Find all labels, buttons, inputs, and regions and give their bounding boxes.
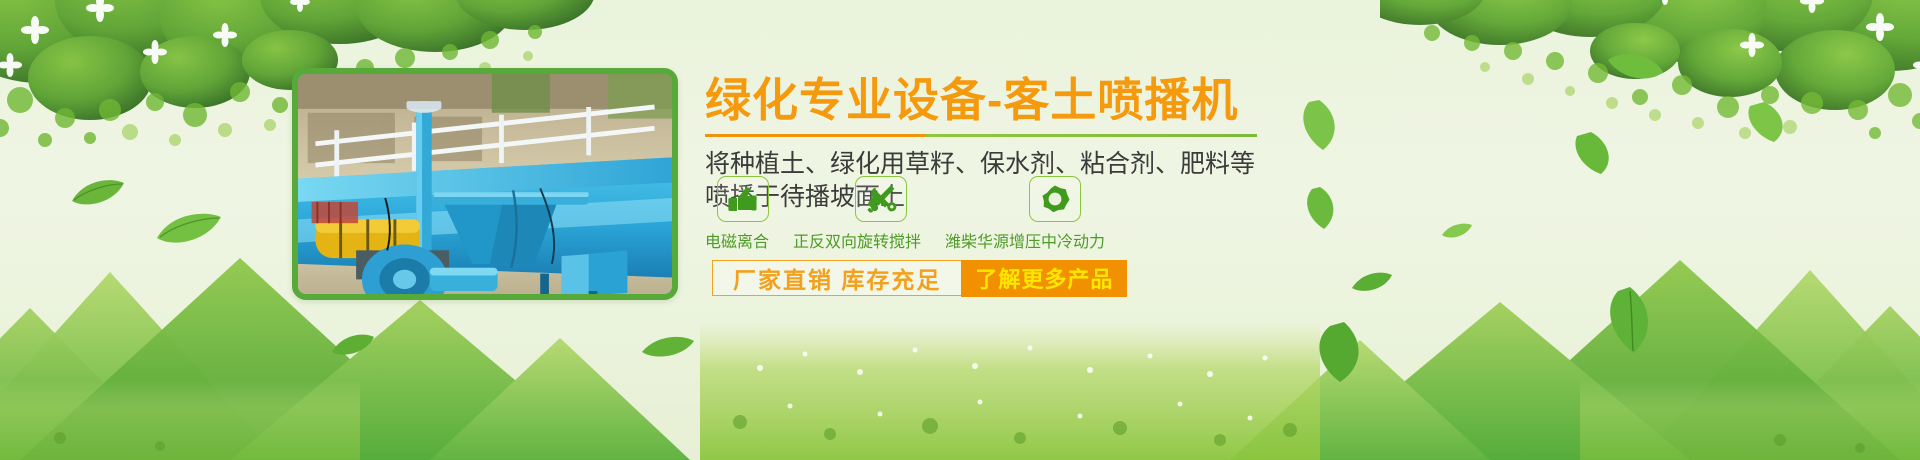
title-divider bbox=[705, 134, 1257, 137]
feature-icon-box bbox=[1029, 176, 1081, 222]
feature-item-weichai-engine[interactable] bbox=[1029, 176, 1081, 222]
thumbs-up-icon bbox=[727, 185, 759, 213]
cta-bar: 厂家直销 库存充足 了解更多产品 bbox=[712, 260, 1127, 296]
leaf-decoration-icon bbox=[1310, 320, 1368, 384]
gear-engine-icon bbox=[1039, 184, 1071, 214]
tools-icon bbox=[865, 184, 897, 214]
page-title: 绿化专业设备-客土喷播机 bbox=[705, 72, 1805, 128]
product-photo-hydroseeder bbox=[298, 74, 672, 299]
leaf-decoration-icon bbox=[155, 208, 223, 248]
leaf-decoration-icon bbox=[640, 332, 696, 362]
feature-label-row: 电磁离合 正反双向旋转搅拌 潍柴华源增压中冷动力 bbox=[705, 228, 1105, 252]
feature-label-2: 正反双向旋转搅拌 bbox=[793, 228, 921, 252]
feature-icon-box bbox=[717, 176, 769, 222]
feature-list bbox=[705, 176, 1225, 222]
leaf-decoration-icon bbox=[1600, 285, 1658, 355]
learn-more-button[interactable]: 了解更多产品 bbox=[961, 260, 1127, 297]
product-photo-frame[interactable] bbox=[292, 68, 678, 300]
leaf-decoration-icon bbox=[70, 175, 126, 209]
leaf-decoration-icon bbox=[330, 330, 376, 358]
feature-label-1: 电磁离合 bbox=[705, 228, 769, 252]
feature-item-bidirectional-stirring[interactable] bbox=[855, 176, 907, 222]
feature-item-electromagnetic-clutch[interactable] bbox=[717, 176, 769, 222]
leaf-decoration-icon bbox=[1350, 268, 1394, 294]
cta-slogan: 厂家直销 库存充足 bbox=[713, 261, 961, 295]
leaf-decoration-icon bbox=[1440, 220, 1474, 240]
promo-banner: 绿化专业设备-客土喷播机 将种植土、绿化用草籽、保水剂、粘合剂、肥料等 喷播于待… bbox=[0, 0, 1920, 460]
feature-label-3: 潍柴华源增压中冷动力 bbox=[945, 228, 1105, 252]
feature-icon-box bbox=[855, 176, 907, 222]
